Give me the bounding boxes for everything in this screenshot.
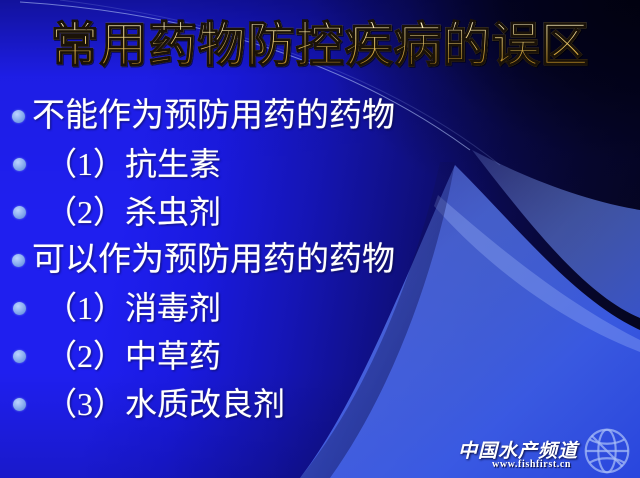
watermark-url: www.fishfirst.cn (492, 459, 571, 470)
list-item-label: （3）水质改良剂 (45, 388, 285, 420)
list-item[interactable]: （1）抗生素 (0, 140, 640, 188)
page-title: 常用药物防控疾病的误区 (50, 22, 589, 70)
list-item[interactable]: （3）水质改良剂 (0, 380, 640, 428)
watermark: 中国水产频道 www.fishfirst.cn (430, 424, 640, 478)
disc-bullet-icon (13, 206, 26, 219)
disc-bullet-icon (13, 158, 26, 171)
disc-bullet-icon (12, 254, 25, 267)
list-item[interactable]: （2）中草药 (0, 332, 640, 380)
disc-bullet-icon (13, 398, 26, 411)
disc-bullet-icon (13, 350, 26, 363)
slide-body-list: 不能作为预防用药的药物 （1）抗生素 （2）杀虫剂 可以作为预防用药的药物 （1… (0, 92, 640, 478)
slide-title-zone: 常用药物防控疾病的误区 (0, 4, 640, 88)
list-item-label: （1）消毒剂 (45, 292, 221, 324)
list-item[interactable]: 不能作为预防用药的药物 (0, 92, 640, 140)
list-item[interactable]: （2）杀虫剂 (0, 188, 640, 236)
list-item[interactable]: （1）消毒剂 (0, 284, 640, 332)
list-item-label: （1）抗生素 (45, 148, 221, 180)
disc-bullet-icon (12, 110, 25, 123)
disc-bullet-icon (13, 302, 26, 315)
globe-icon (578, 424, 636, 478)
list-item-label: 不能作为预防用药的药物 (32, 100, 395, 133)
list-item[interactable]: 可以作为预防用药的药物 (0, 236, 640, 284)
list-item-label: （2）中草药 (45, 340, 221, 372)
list-item-label: 可以作为预防用药的药物 (32, 244, 395, 277)
slide-canvas: 常用药物防控疾病的误区 不能作为预防用药的药物 （1）抗生素 （2）杀虫剂 可以… (0, 0, 640, 478)
list-item-label: （2）杀虫剂 (45, 196, 221, 228)
